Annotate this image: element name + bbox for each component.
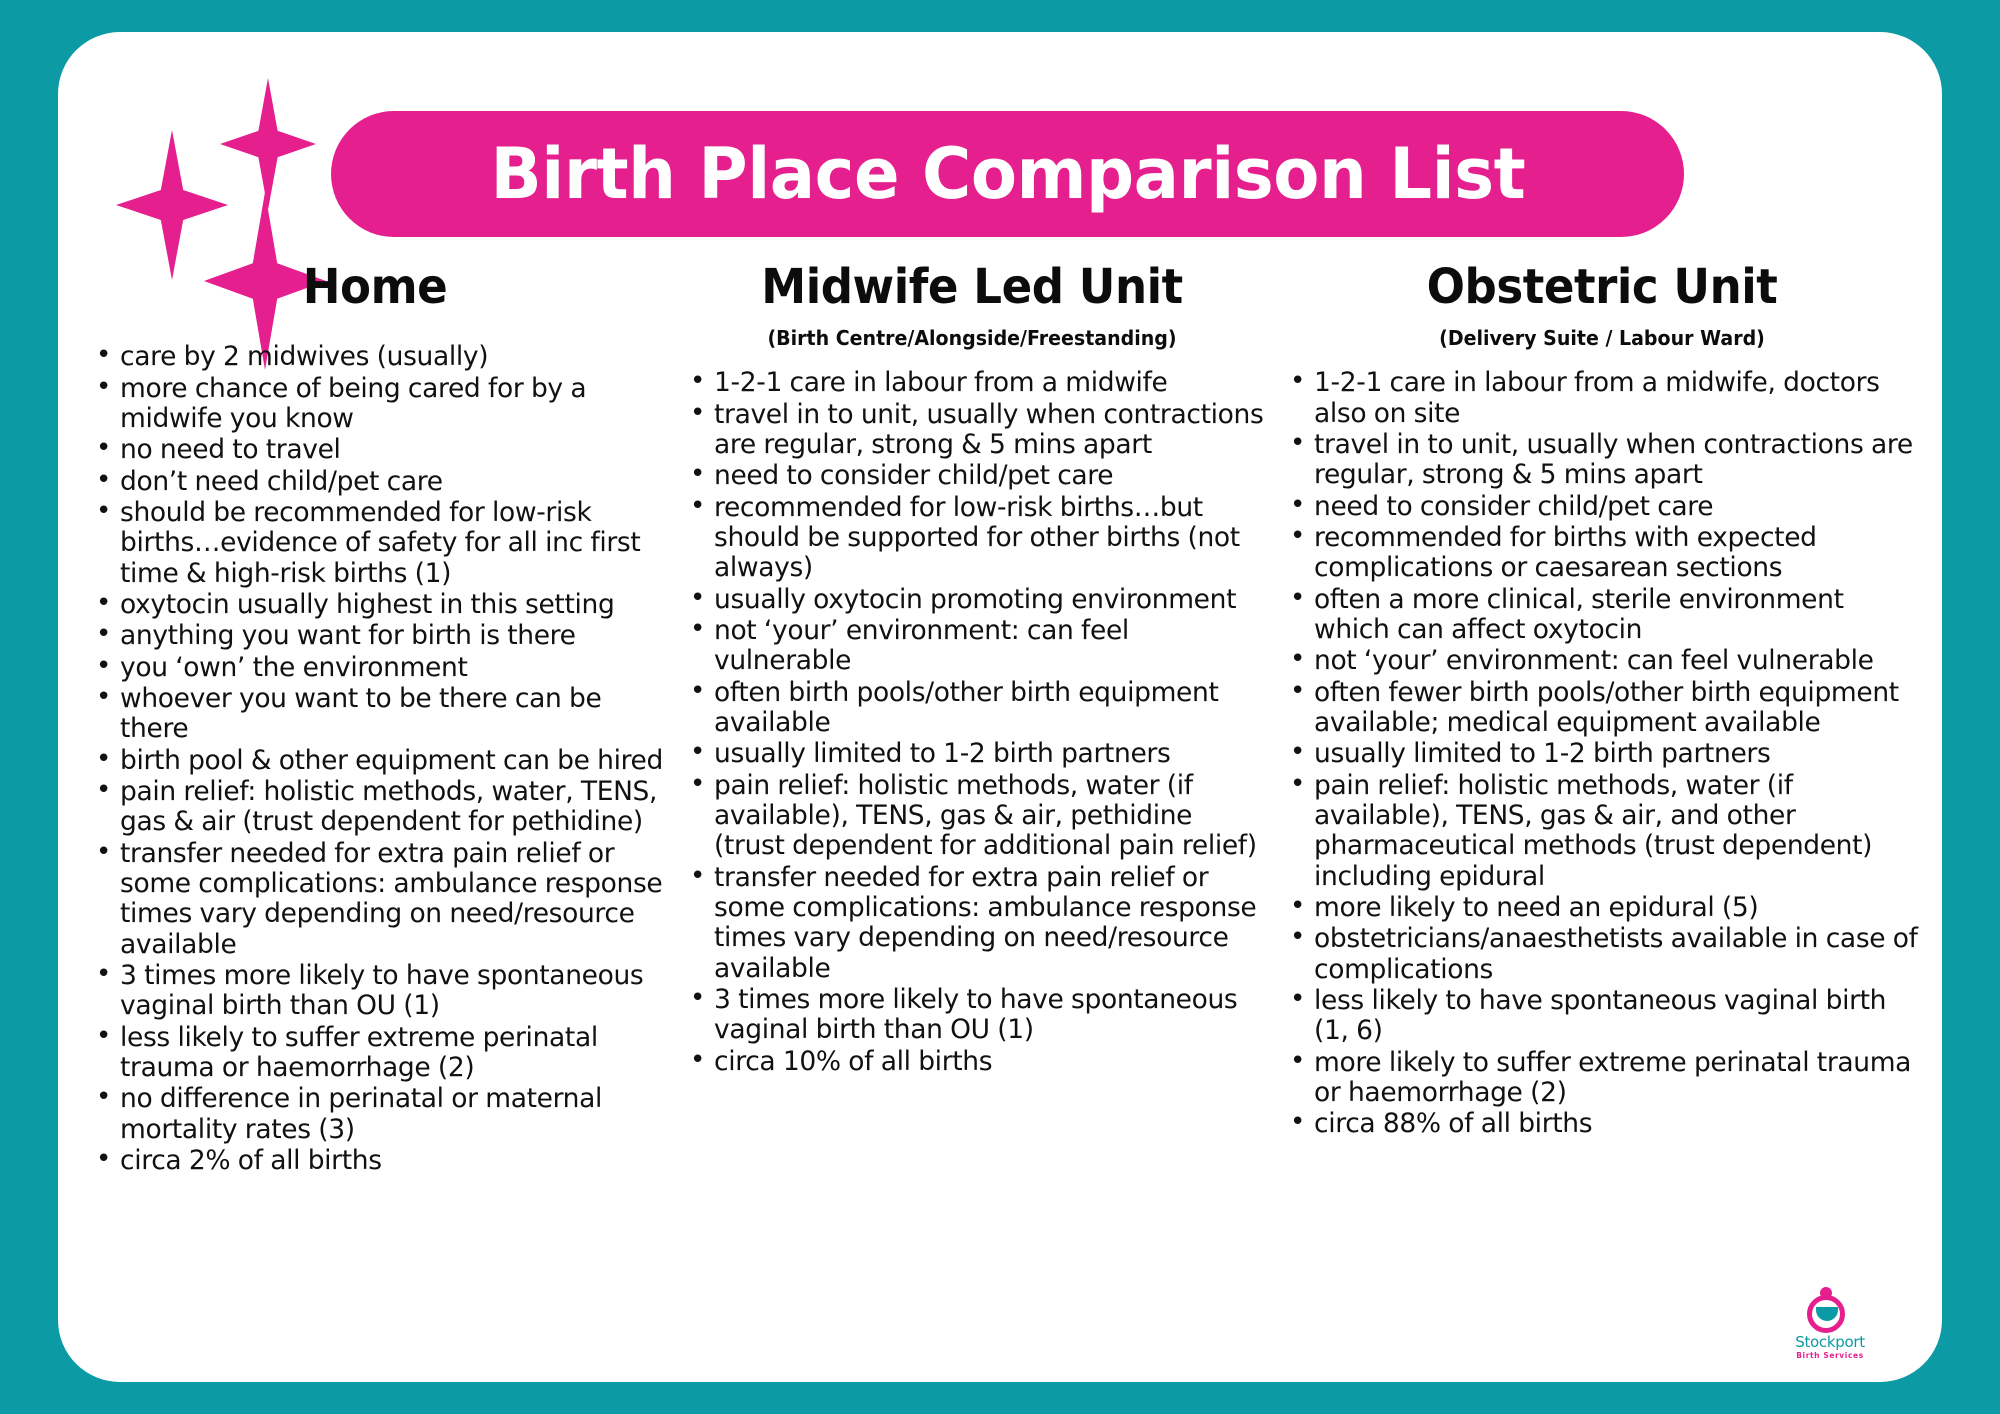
- list-item: not ‘your’ environment: can feel vulnera…: [1280, 646, 1924, 676]
- column-subheading-obstetric-unit: (Delivery Suite / Labour Ward): [1296, 326, 1908, 350]
- column-heading-home: Home: [103, 262, 646, 312]
- list-item: often birth pools/other birth equipment …: [680, 678, 1264, 739]
- list-item: pain relief: holistic methods, water (if…: [1280, 771, 1924, 892]
- list-item: no need to travel: [86, 435, 664, 465]
- list-item: care by 2 midwives (usually): [86, 342, 664, 372]
- sparkle-icon: [116, 130, 228, 280]
- list-item: 3 times more likely to have spontaneous …: [680, 985, 1264, 1046]
- list-item: less likely to suffer extreme perinatal …: [86, 1023, 664, 1084]
- list-item: pain relief: holistic methods, water, TE…: [86, 777, 664, 838]
- list-item: travel in to unit, usually when contract…: [680, 400, 1264, 461]
- column-heading-midwife-led-unit: Midwife Led Unit: [698, 262, 1247, 312]
- bullet-list-midwife-led-unit: 1-2-1 care in labour from a midwife trav…: [680, 368, 1264, 1077]
- page-title: Birth Place Comparison List: [490, 139, 1525, 209]
- column-midwife-led-unit: Midwife Led Unit (Birth Centre/Alongside…: [672, 262, 1272, 1078]
- list-item: recommended for births with expected com…: [1280, 523, 1924, 584]
- organisation-logo: Stockport Birth Services: [1774, 1287, 1886, 1360]
- list-item: more chance of being cared for by a midw…: [86, 374, 664, 435]
- list-item: circa 2% of all births: [86, 1146, 664, 1176]
- list-item: usually limited to 1-2 birth partners: [680, 739, 1264, 769]
- poster-card: Birth Place Comparison List Home care by…: [58, 32, 1942, 1382]
- stockport-birth-services-icon: [1807, 1287, 1853, 1333]
- column-subheading-midwife-led-unit: (Birth Centre/Alongside/Freestanding): [695, 326, 1250, 350]
- list-item: 3 times more likely to have spontaneous …: [86, 961, 664, 1022]
- list-item: circa 10% of all births: [680, 1047, 1264, 1077]
- list-item: more likely to need an epidural (5): [1280, 893, 1924, 923]
- list-item: need to consider child/pet care: [680, 461, 1264, 491]
- poster-root: Birth Place Comparison List Home care by…: [0, 0, 2000, 1414]
- list-item: less likely to have spontaneous vaginal …: [1280, 986, 1924, 1047]
- list-item: travel in to unit, usually when contract…: [1280, 430, 1924, 491]
- list-item: pain relief: holistic methods, water (if…: [680, 771, 1264, 862]
- list-item: need to consider child/pet care: [1280, 492, 1924, 522]
- column-heading-obstetric-unit: Obstetric Unit: [1299, 262, 1904, 312]
- logo-name: Stockport: [1774, 1335, 1886, 1351]
- list-item: usually limited to 1-2 birth partners: [1280, 739, 1924, 769]
- list-item: 1-2-1 care in labour from a midwife, doc…: [1280, 368, 1924, 429]
- list-item: not ‘your’ environment: can feel vulnera…: [680, 616, 1264, 677]
- list-item: whoever you want to be there can be ther…: [86, 684, 664, 745]
- logo-tagline: Birth Services: [1774, 1351, 1886, 1360]
- list-item: anything you want for birth is there: [86, 621, 664, 651]
- list-item: often fewer birth pools/other birth equi…: [1280, 678, 1924, 739]
- list-item: transfer needed for extra pain relief or…: [680, 863, 1264, 984]
- list-item: often a more clinical, sterile environme…: [1280, 585, 1924, 646]
- column-home: Home care by 2 midwives (usually) more c…: [58, 262, 672, 1177]
- bullet-list-obstetric-unit: 1-2-1 care in labour from a midwife, doc…: [1280, 368, 1924, 1139]
- list-item: you ‘own’ the environment: [86, 653, 664, 683]
- list-item: usually oxytocin promoting environment: [680, 585, 1264, 615]
- list-item: birth pool & other equipment can be hire…: [86, 746, 664, 776]
- list-item: circa 88% of all births: [1280, 1109, 1924, 1139]
- comparison-columns: Home care by 2 midwives (usually) more c…: [58, 262, 1942, 1177]
- sparkle-icon: [220, 78, 316, 210]
- list-item: don’t need child/pet care: [86, 467, 664, 497]
- list-item: more likely to suffer extreme perinatal …: [1280, 1048, 1924, 1109]
- title-banner: Birth Place Comparison List: [331, 111, 1684, 237]
- list-item: 1-2-1 care in labour from a midwife: [680, 368, 1264, 398]
- column-obstetric-unit: Obstetric Unit (Delivery Suite / Labour …: [1272, 262, 1942, 1141]
- list-item: should be recommended for low-risk birth…: [86, 498, 664, 589]
- list-item: oxytocin usually highest in this setting: [86, 590, 664, 620]
- list-item: transfer needed for extra pain relief or…: [86, 839, 664, 960]
- list-item: recommended for low-risk births…but shou…: [680, 493, 1264, 584]
- list-item: no difference in perinatal or maternal m…: [86, 1084, 664, 1145]
- list-item: obstetricians/anaesthetists available in…: [1280, 924, 1924, 985]
- bullet-list-home: care by 2 midwives (usually) more chance…: [86, 342, 664, 1176]
